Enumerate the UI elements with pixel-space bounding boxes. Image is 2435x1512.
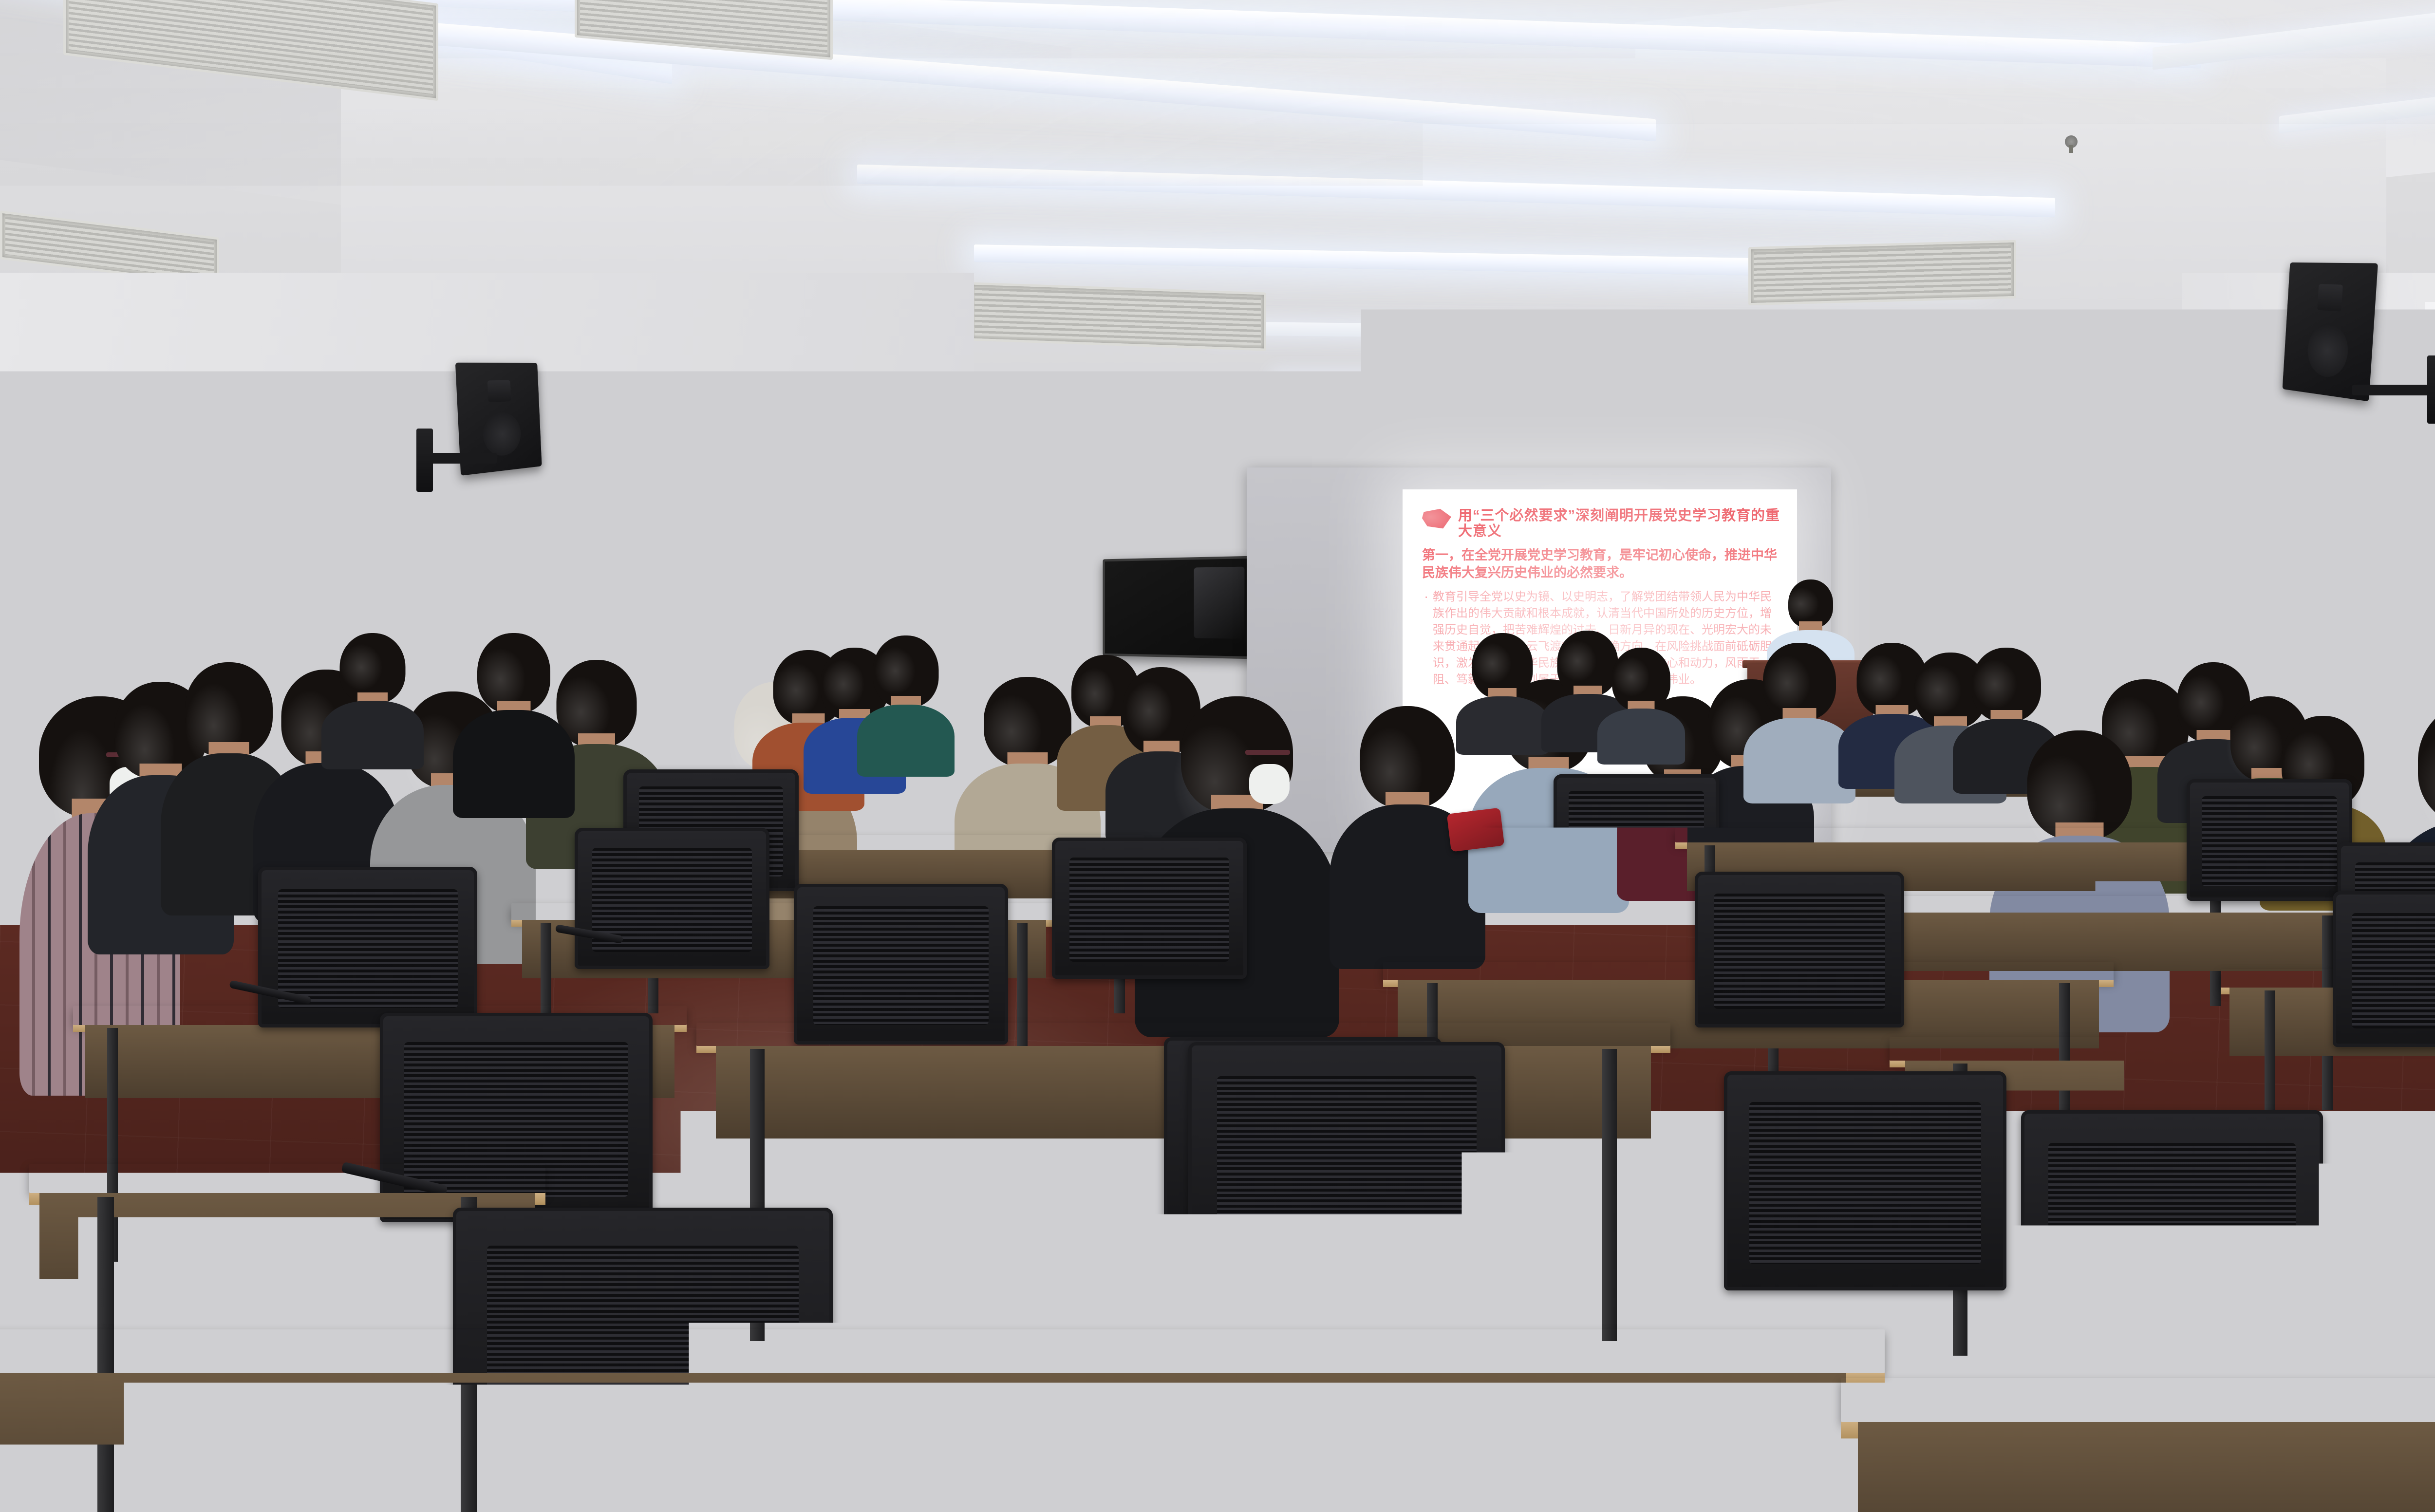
person-torso	[453, 710, 575, 818]
speaker-right-arm	[2352, 385, 2429, 395]
hair-highlight	[1972, 659, 2017, 709]
chair-mid-right[interactable]	[2187, 779, 2352, 901]
hair-highlight	[1558, 640, 1597, 682]
conference-room-photo: 用“三个必然要求”深刻阐明开展党史学习教育的重大意义 第一，在全党开展党史学习教…	[0, 0, 2435, 1512]
audience-member	[321, 633, 424, 769]
tv-screen-reflection	[1194, 566, 1244, 639]
hair-highlight	[1613, 657, 1650, 697]
chair-row5-d[interactable]	[2333, 891, 2435, 1047]
sprinkler-head-2	[2065, 135, 2078, 148]
ceiling-light-strip-7	[1276, 375, 1890, 386]
projector-vent-grill	[1500, 423, 1522, 437]
chair-foreground-right[interactable]	[1573, 1247, 1992, 1512]
ac-vent-5	[1748, 240, 2016, 305]
av-control-panel[interactable]	[593, 560, 636, 621]
chair-row4-a[interactable]	[575, 828, 769, 969]
door-hinge-top	[1004, 566, 1012, 578]
chair-row5-b[interactable]	[794, 884, 1008, 1045]
person-torso	[1456, 696, 1549, 755]
eyeglasses	[1245, 750, 1290, 755]
desk-foreground-left	[29, 1164, 545, 1193]
projector-lens	[1483, 425, 1494, 436]
chair-foreground-b[interactable]	[1188, 1042, 1505, 1286]
wall-mounted-tv[interactable]	[1103, 556, 1259, 659]
slide-title: 用“三个必然要求”深刻阐明开展党史学习教育的重大意义	[1458, 508, 1780, 540]
speaker-left-arm	[426, 453, 497, 464]
audience-member	[1456, 633, 1549, 755]
person-torso	[1597, 709, 1685, 765]
hair-highlight	[1763, 655, 1811, 710]
chair-row4-c[interactable]	[1485, 828, 1670, 964]
speaker-left-wall-plate	[416, 429, 433, 492]
person-torso	[321, 701, 424, 769]
desk-row-3-right	[1675, 828, 2250, 842]
slide-subtitle: 第一，在全党开展党史学习教育，是牢记初心使命，推进中华民族伟大复兴历史伟业的必然…	[1422, 546, 1780, 582]
chair-row5-a[interactable]	[258, 867, 477, 1027]
hair-highlight	[875, 647, 916, 695]
hair-highlight	[340, 644, 383, 690]
chair-row5-c[interactable]	[1695, 872, 1904, 1027]
ac-vent-4	[969, 282, 1266, 351]
chair-row6-d[interactable]	[2021, 1110, 2323, 1344]
audience-member	[453, 633, 575, 818]
speaker-right-wall-plate	[2427, 355, 2435, 424]
chair-row4-b[interactable]	[1052, 838, 1247, 979]
face-mask	[1249, 764, 1290, 804]
party-flag-icon	[1422, 508, 1451, 530]
audience-member	[857, 635, 955, 777]
av-panel-screen	[600, 574, 629, 600]
person-torso	[857, 705, 955, 777]
sprinkler-head-3	[1412, 370, 1425, 383]
hair-highlight	[1473, 643, 1512, 684]
wall-speaker-right	[2283, 262, 2378, 401]
audience-member	[1597, 648, 1685, 765]
desk-row-6-right	[1890, 1037, 2435, 1061]
ceiling-projector	[1449, 419, 1527, 442]
